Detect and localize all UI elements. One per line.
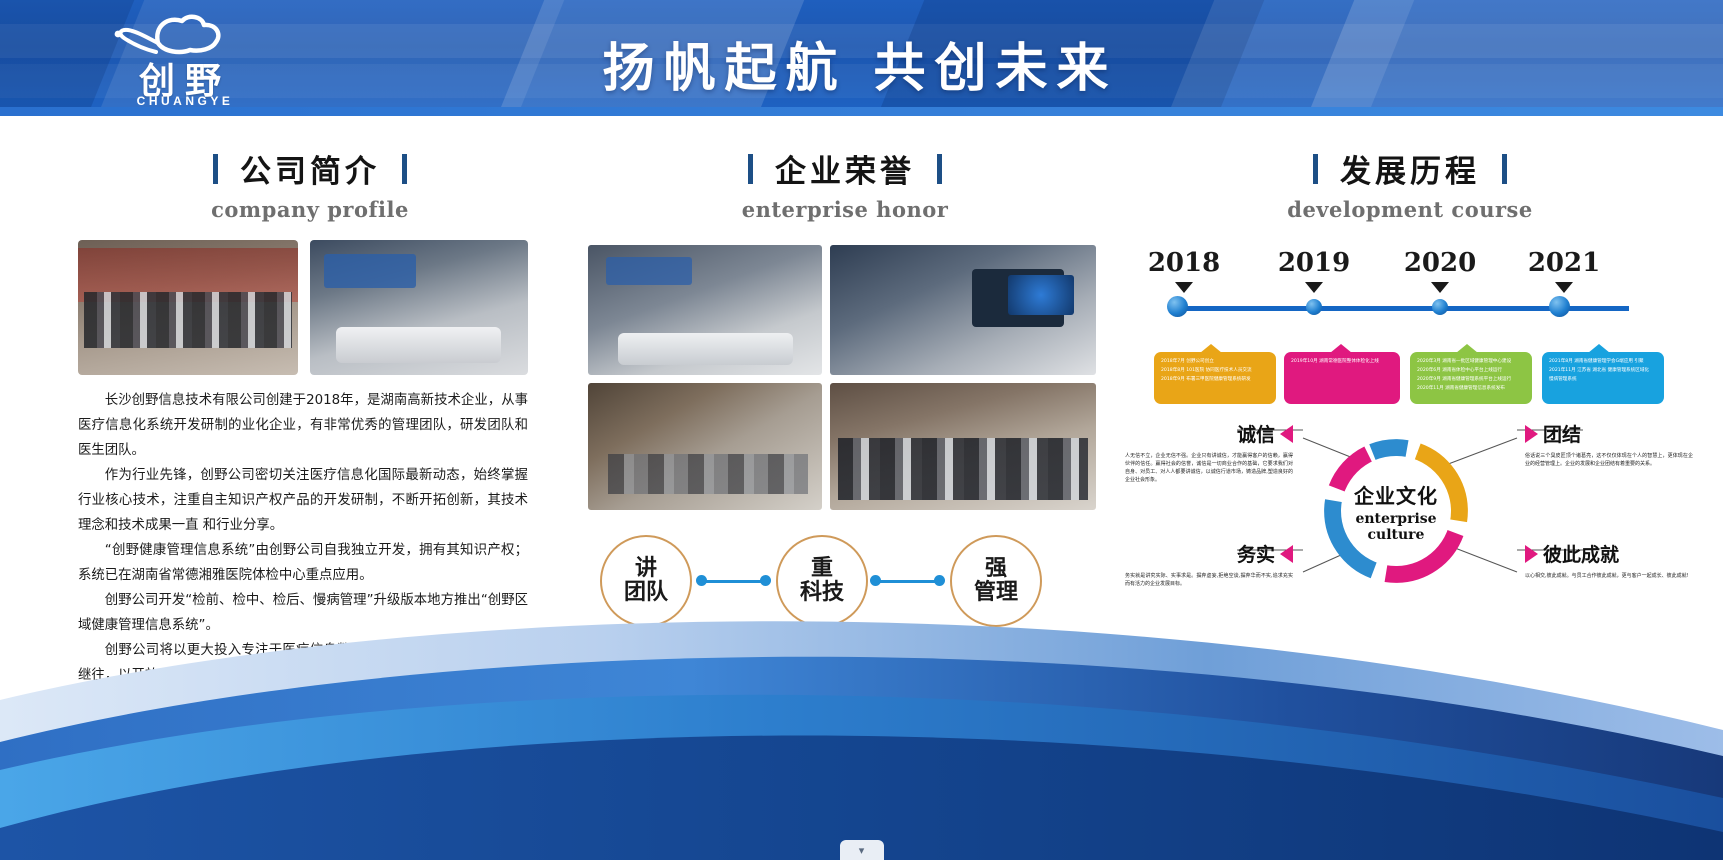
culture-value-integrity: 诚信 人无信不立，企业无信不强。企业只有讲诚信，才能赢得客户的信赖，赢得伙伴的信… — [1125, 420, 1293, 484]
bottom-wave-decoration — [0, 560, 1723, 860]
timeline-card-2021: 2021年8月 湖南省健康管理学会G端应用 引聚 2021年11月 江苏省 湖北… — [1542, 352, 1664, 404]
card-line: 2019年10月 湖南常德医院整体体检化上线 — [1291, 358, 1393, 366]
card-notch — [1588, 344, 1610, 353]
scroll-indicator[interactable]: ▾ — [840, 840, 884, 860]
timeline-card-row: 2018年7月 创野公司创立 2018年8月 101医院 协同医疗技术人员交流 … — [1152, 344, 1692, 410]
heading-en: enterprise honor — [665, 197, 1025, 222]
card-line: 2018年7月 创野公司创立 — [1161, 358, 1269, 366]
card-line: 2018年8月 101医院 协同医疗技术人员交流 — [1161, 367, 1269, 375]
arrow-right-icon — [1525, 425, 1538, 443]
timeline-dot — [1432, 299, 1448, 315]
header-stripe-5 — [1294, 0, 1723, 116]
timeline-dot — [1549, 296, 1570, 317]
timeline-card-2018: 2018年7月 创野公司创立 2018年8月 101医院 协同医疗技术人员交流 … — [1154, 352, 1276, 404]
arrow-left-icon — [1280, 425, 1293, 443]
card-notch — [1330, 344, 1352, 353]
honor-photo-4 — [830, 383, 1096, 510]
profile-photo-row — [78, 240, 528, 375]
card-line: 2020年9月 湖南省健康管理系统平台上线运行 — [1417, 376, 1525, 384]
culture-value-unity: 团结 俗话说三个臭皮匠顶个诸葛亮，这不仅仅体现在个人的智慧上，更体现在企业的经营… — [1525, 420, 1693, 468]
heading-bar-left — [213, 154, 218, 184]
heading-en: company profile — [130, 197, 490, 222]
card-line: 2020年3月 湖南省一批区域健康管理中心建设 — [1417, 358, 1525, 366]
heading-company-profile: 公司简介 company profile — [130, 146, 490, 222]
poster-header: 创野 CHUANGYE 扬帆起航 共创未来 — [0, 0, 1723, 116]
timeline-year: 2019 — [1264, 248, 1364, 278]
timeline-card-2020: 2020年3月 湖南省一批区域健康管理中心建设 2020年6月 湖南省体检中心平… — [1410, 352, 1532, 404]
header-underline — [0, 107, 1723, 116]
heading-cn: 企业荣誉 — [775, 146, 915, 191]
card-line: 2018年9月 布署三甲医院健康管理系统研发 — [1161, 376, 1269, 384]
honor-photo-1 — [588, 245, 822, 375]
timeline-year: 2020 — [1390, 248, 1490, 278]
heading-bar-right — [402, 154, 407, 184]
timeline-dot — [1167, 296, 1188, 317]
card-line: 2020年6月 湖南省体检中心平台上线运行 — [1417, 367, 1525, 375]
honor-photo-2 — [830, 245, 1096, 375]
timeline-caret — [1175, 282, 1193, 293]
heading-en: development course — [1230, 197, 1590, 222]
poster-canvas: 创野 CHUANGYE 扬帆起航 共创未来 公司简介 company profi… — [0, 0, 1723, 860]
culture-value-title: 诚信 — [1237, 420, 1275, 447]
honor-photo-grid — [588, 245, 1096, 510]
logo-text-en: CHUANGYE — [110, 94, 260, 108]
honor-photo-3 — [588, 383, 822, 510]
card-notch — [1200, 344, 1222, 353]
company-logo: 创野 CHUANGYE — [96, 12, 271, 108]
heading-bar-left — [1313, 154, 1318, 184]
culture-value-title: 团结 — [1543, 420, 1581, 447]
heading-cn: 公司简介 — [240, 146, 380, 191]
heading-bar-right — [1502, 154, 1507, 184]
poster-main-title: 扬帆起航 共创未来 — [380, 26, 1340, 101]
card-line: 2021年8月 湖南省健康管理学会G端应用 引聚 — [1549, 358, 1657, 366]
heading-cn: 发展历程 — [1340, 146, 1480, 191]
card-line: 2020年11月 湖南省健康管理信息系统发布 — [1417, 385, 1525, 393]
profile-photo-group — [78, 240, 298, 375]
chevron-down-icon: ▾ — [859, 844, 865, 857]
heading-development-course: 发展历程 development course — [1230, 146, 1590, 222]
profile-photo-office — [310, 240, 528, 375]
heading-bar-right — [937, 154, 942, 184]
profile-paragraph: 长沙创野信息技术有限公司创建于2018年，是湖南高新技术企业，从事医疗信息化系统… — [78, 388, 528, 463]
timeline-caret — [1555, 282, 1573, 293]
card-notch — [1456, 344, 1478, 353]
timeline-caret — [1305, 282, 1323, 293]
culture-value-body: 人无信不立，企业无信不强。企业只有讲诚信，才能赢得客户的信赖，赢得伙伴的信任。赢… — [1125, 452, 1293, 484]
profile-paragraph: 作为行业先锋，创野公司密切关注医疗信息化国际最新动态，始终掌握行业核心技术，注重… — [78, 463, 528, 538]
card-line: 慢病管理系统 — [1549, 376, 1657, 384]
timeline-year: 2021 — [1514, 248, 1614, 278]
timeline-caret — [1431, 282, 1449, 293]
card-line: 2021年11月 江苏省 湖北省 健康管理系统区域化 — [1549, 367, 1657, 375]
timeline-dot — [1306, 299, 1322, 315]
timeline-card-2019: 2019年10月 湖南常德医院整体体检化上线 — [1284, 352, 1400, 404]
heading-enterprise-honor: 企业荣誉 enterprise honor — [665, 146, 1025, 222]
timeline-year: 2018 — [1134, 248, 1234, 278]
culture-value-body: 俗话说三个臭皮匠顶个诸葛亮，这不仅仅体现在个人的智慧上，更体现在企业的经营管理上… — [1525, 452, 1693, 468]
heading-bar-left — [748, 154, 753, 184]
